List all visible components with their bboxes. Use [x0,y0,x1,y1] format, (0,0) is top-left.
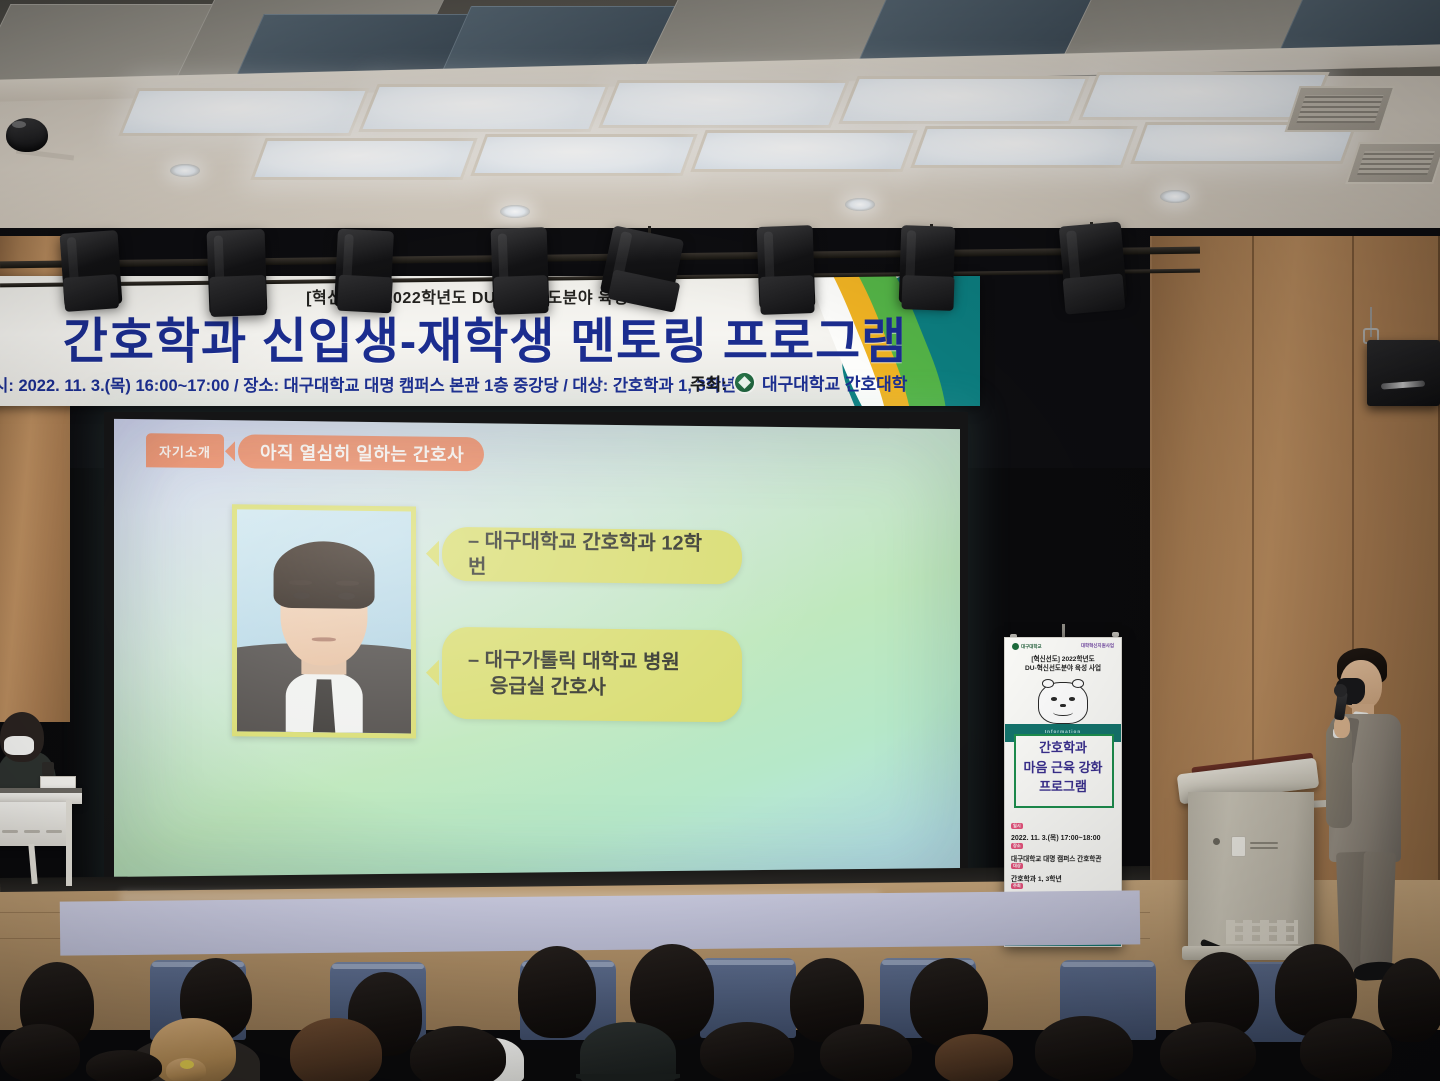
ceiling-light-panel [838,76,1089,124]
seat-headrest [332,964,424,969]
slide-bullet-2: – 대구가톨릭 대학교 병원 응급실 간호사 [442,627,742,723]
rollup-pole [1062,624,1065,638]
audience-head [935,1034,1013,1081]
ceiling-light-panel [690,130,917,172]
rollup-header-line1: [혁신선도] 2022학년도 [1005,656,1121,665]
rollup-badge-audience: 대상 [1011,863,1023,869]
audience-head [1160,1022,1256,1081]
ceiling-light-panel [250,138,477,180]
light-occlusion [759,275,814,315]
rollup-badge-datetime: 일시 [1011,823,1023,829]
table-vent [46,830,62,833]
light-occlusion [209,275,266,317]
ceiling-light-panel [358,84,609,132]
air-conditioning-vent [1345,142,1440,184]
table-vent [24,830,40,833]
banner-host: 주최: 대구대학교 간호대학 [690,370,907,395]
face-mask [4,736,34,755]
ceiling-light-panel [910,126,1137,168]
audience-head [0,1024,80,1081]
security-camera-icon [6,118,48,152]
light-occlusion [493,275,548,315]
projection-screen-frame: 자기소개 아직 열심히 일하는 간호사 – 대구대학교 간호학 [104,412,968,894]
light-occlusion [901,275,954,311]
audience-head [1378,958,1440,1042]
presenter-trousers [1360,851,1396,964]
university-seal-icon [733,371,756,394]
slide-section-tag: 자기소개 [146,433,224,468]
audience-head [910,958,988,1046]
light-occlusion [63,274,119,312]
audience-head [1035,1016,1133,1081]
audience-head [820,1024,912,1081]
rollup-logo-left-text: 대구대학교 [1021,644,1042,650]
air-conditioning-vent [1285,86,1396,132]
podium-slot [1250,847,1278,849]
rollup-header: [혁신선도] 2022학년도 DU-혁신선도분야 육성 사업 [1005,656,1121,674]
banner-host-label: 주최: [690,370,727,395]
banner-host-name: 대구대학교 간호대학 [762,370,907,395]
rollup-logo-right: 대학혁신지원사업 [1081,643,1114,650]
rollup-logos: 대구대학교 대학혁신지원사업 [1005,643,1121,650]
recessed-downlight [1160,190,1190,203]
audience-head [700,1022,794,1081]
rollup-badge-location: 장소 [1011,843,1023,849]
ceiling-light-panel [598,80,849,128]
podium-control-plate [1231,836,1246,857]
banner-details: 일시: 2022. 11. 3.(목) 16:00~17:00 / 장소: 대구… [0,372,736,396]
rollup-badge-host: 주최 [1011,883,1023,889]
portrait-photo [232,504,416,738]
stage-riser-wall [60,890,1141,955]
slide-bullet-2-line1: – 대구가톨릭 대학교 병원 [468,647,680,676]
ceiling-light-panel [118,88,369,136]
podium-knob [1213,838,1220,845]
microphone-head-icon [1334,684,1347,697]
seat-headrest [702,960,794,965]
banner-title: 간호학과 신입생-재학생 멘토링 프로그램 [0,302,980,373]
auditorium-photo: [혁신선도] 2022학년도 DU-혁신선도분야 육성 사업 간호학과 신입생-… [0,0,1440,1081]
event-banner: [혁신선도] 2022학년도 DU-혁신선도분야 육성 사업 간호학과 신입생-… [0,276,980,406]
rollup-title-line2: 마음 근육 강화 [1005,758,1121,778]
ceiling-skylight [236,14,474,76]
audience-head [86,1050,162,1081]
hair-tie [180,1060,194,1069]
rollup-title-line1: 간호학과 [1005,738,1121,758]
cap-brim [576,1074,680,1081]
table-vent [2,830,18,833]
projected-slide: 자기소개 아직 열심히 일하는 간호사 – 대구대학교 간호학 [114,419,960,887]
audience-head [410,1026,506,1081]
light-occlusion [1063,273,1126,314]
rollup-logo-left: 대구대학교 [1012,643,1042,650]
rollup-header-line2: DU-혁신선도분야 육성 사업 [1005,665,1121,674]
light-occlusion [337,275,393,314]
slide-bullet-2-line2: 응급실 간호사 [468,673,606,701]
slide-headline: 아직 열심히 일하는 간호사 [238,434,484,471]
seat-headrest [1062,962,1154,967]
audience-head [1300,1018,1392,1081]
rollup-title: 간호학과 마음 근육 강화 프로그램 [1005,738,1121,797]
table-leg [66,800,72,886]
slide-bullet-1: – 대구대학교 간호학과 12학번 [442,527,742,585]
tiger-mascot-icon [1038,682,1088,724]
black-cap [580,1022,676,1081]
audience-head [518,946,596,1038]
audience-head [290,1018,382,1081]
rollup-title-line3: 프로그램 [1005,777,1121,797]
recessed-downlight [845,198,875,211]
university-seal-icon [1012,643,1019,650]
wall-speaker-icon [1367,340,1440,406]
podium-slot [1250,842,1278,844]
recessed-downlight [170,164,200,177]
podium-speaker-grille [1226,920,1298,944]
ceiling-light-panel [470,134,697,176]
recessed-downlight [500,205,530,218]
staff-table-front [0,802,66,846]
